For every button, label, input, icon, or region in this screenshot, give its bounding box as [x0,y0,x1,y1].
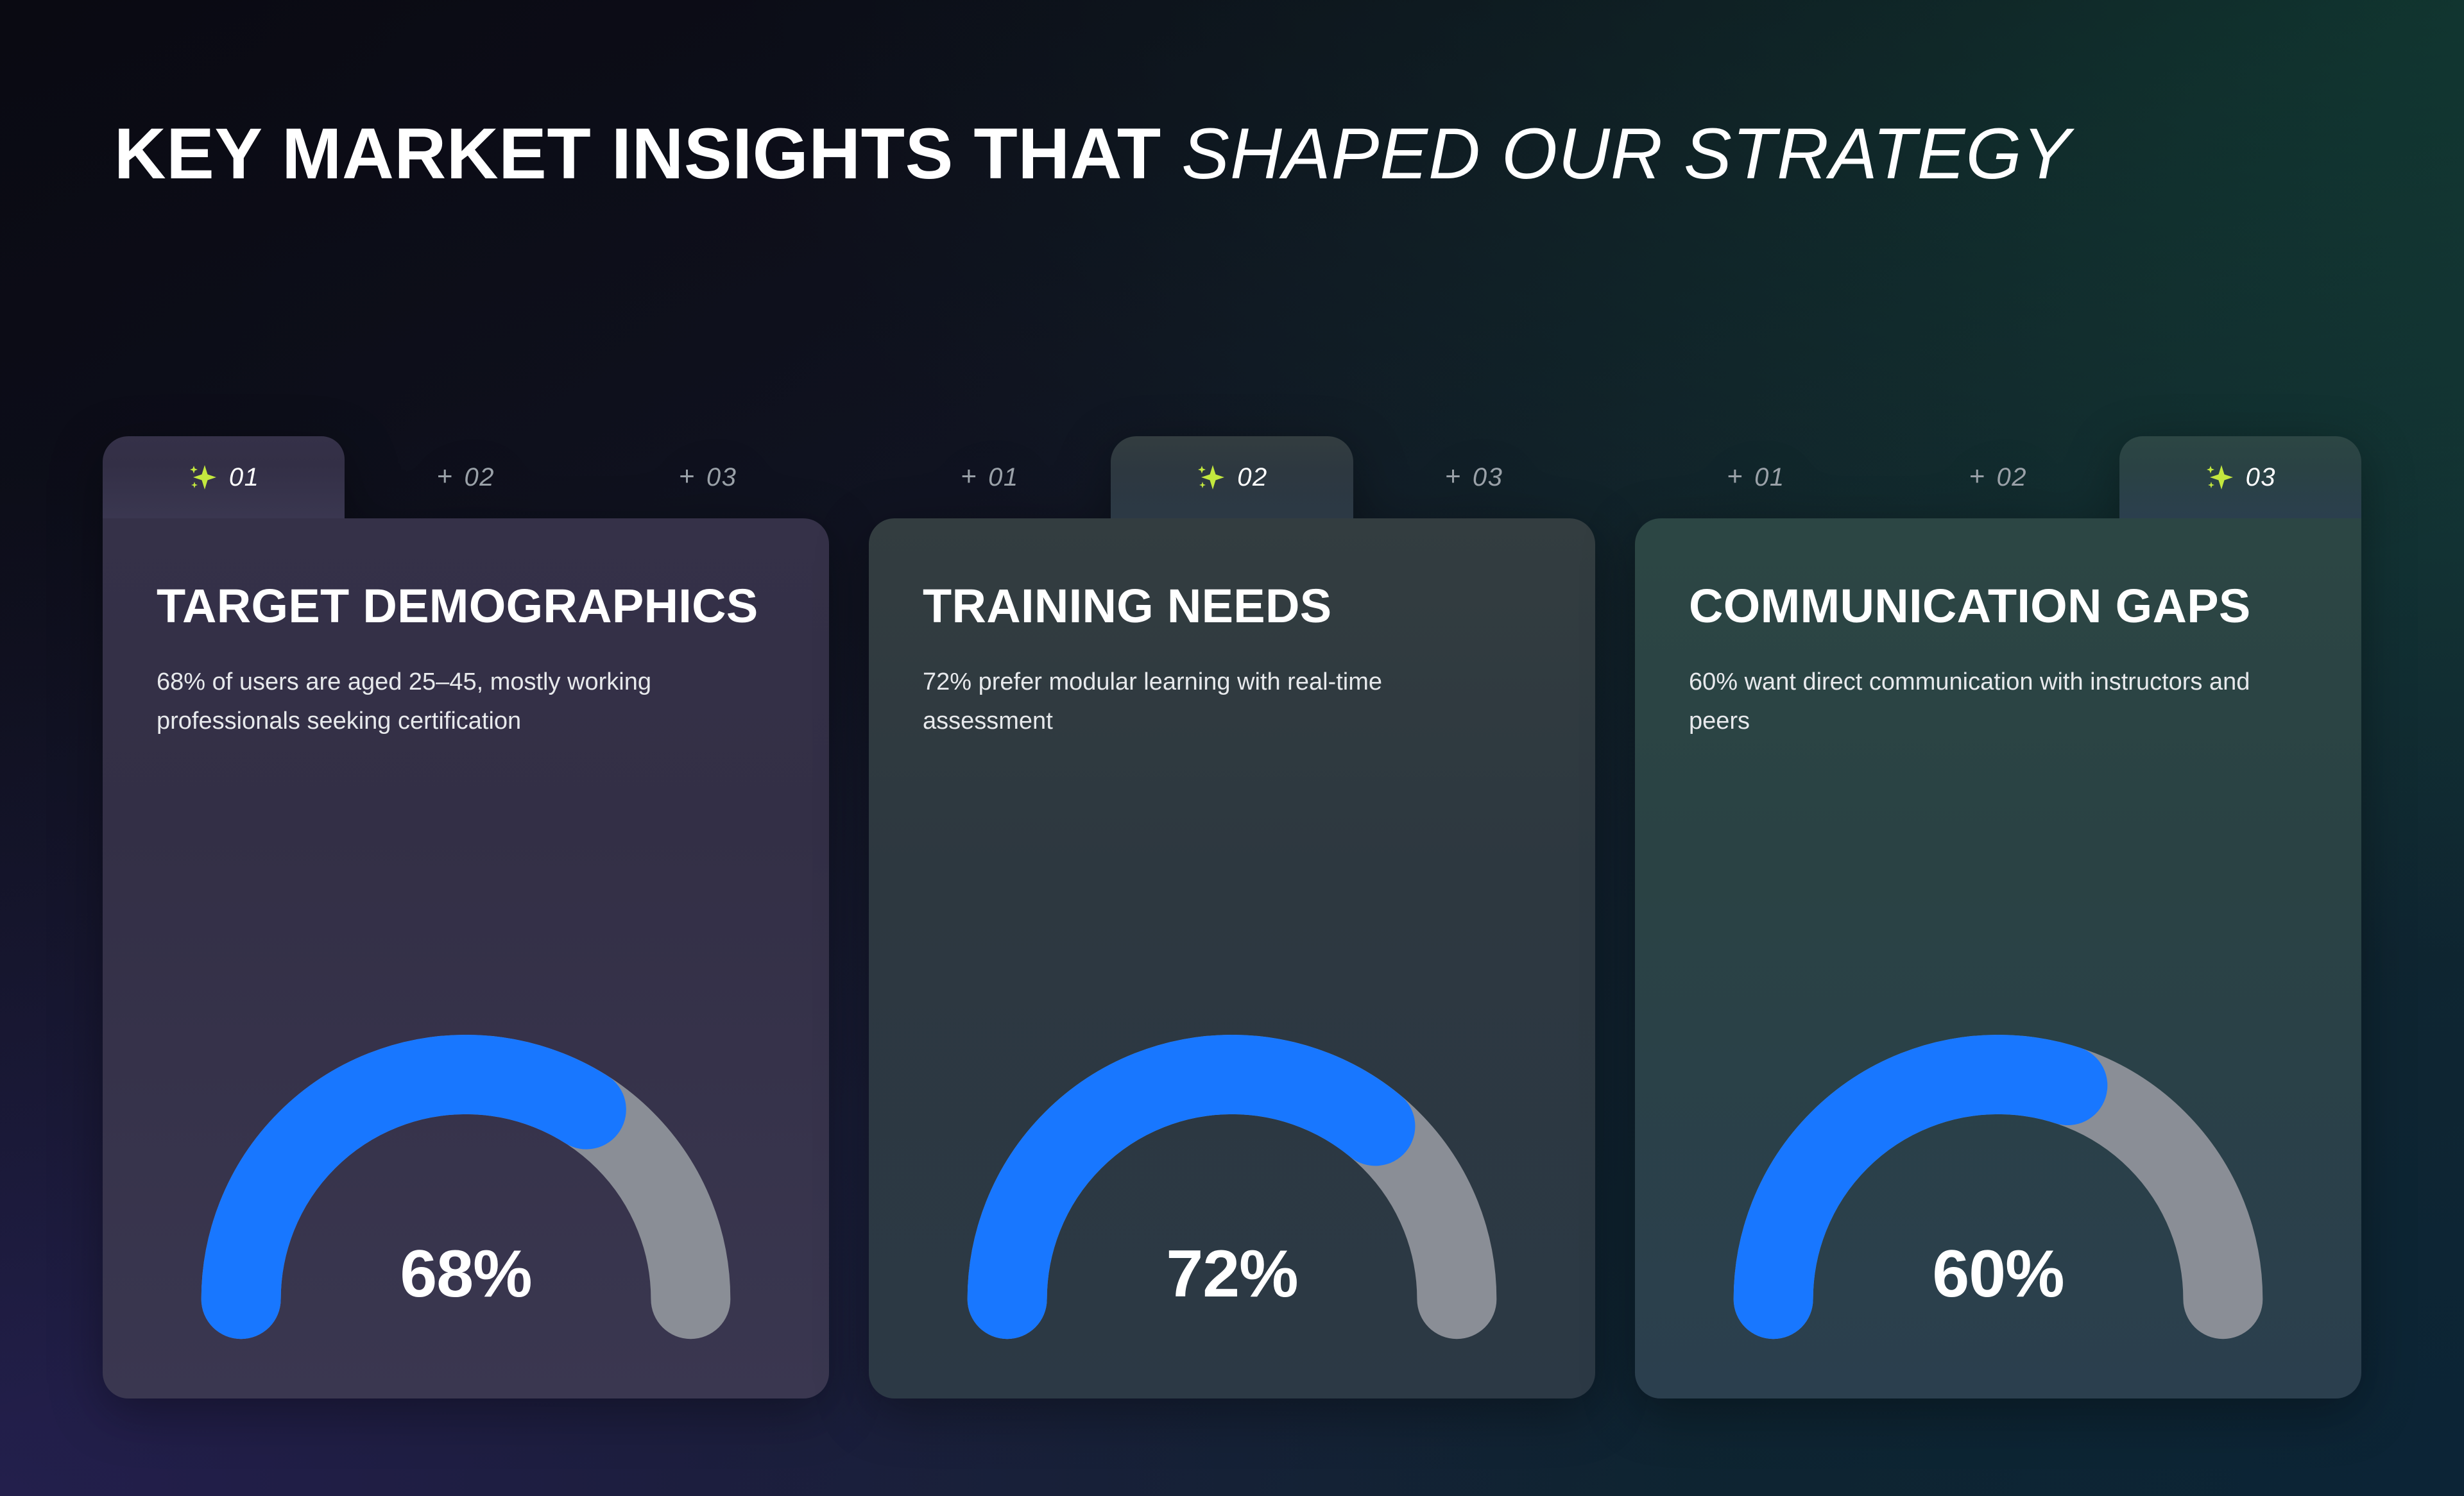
card-2-tab-03-label: 03 [1473,463,1503,492]
card-1-gauge: 68% [190,1025,742,1327]
card-1-gauge-wrap: 68% [103,1025,829,1327]
card-3-title: COMMUNICATION GAPS [1689,580,2307,633]
card-2-tab-02-label: 02 [1237,463,1268,492]
plus-icon: + [1727,463,1743,489]
card-3-gauge-label: 60% [1722,1236,2274,1313]
insight-card-1: 01 + 02 + 03 TARGET DEMOGRAPHICS 68% of … [103,436,829,1398]
card-3-tab-03[interactable]: 03 [2119,436,2361,518]
card-1-tab-03-label: 03 [706,463,737,492]
card-3-tab-01-label: 01 [1754,463,1785,492]
card-3-description: 60% want direct communication with instr… [1689,663,2258,742]
card-2-description: 72% prefer modular learning with real-ti… [923,663,1492,742]
card-1-tab-01-label: 01 [229,463,260,492]
card-3-tab-02-label: 02 [1997,463,2028,492]
card-1-description: 68% of users are aged 25–45, mostly work… [157,663,726,742]
card-3-tabs: + 01 + 02 03 [1635,436,2361,518]
card-1-tab-02-label: 02 [465,463,495,492]
insight-cards-row: 01 + 02 + 03 TARGET DEMOGRAPHICS 68% of … [103,436,2361,1398]
card-2-title: TRAINING NEEDS [923,580,1541,633]
card-3-gauge: 60% [1722,1025,2274,1327]
card-2-tab-03[interactable]: + 03 [1353,436,1595,518]
page-title: KEY MARKET INSIGHTS THAT SHAPED OUR STRA… [103,95,2092,213]
card-2-body: TRAINING NEEDS 72% prefer modular learni… [869,518,1595,1398]
plus-icon: + [679,463,695,489]
card-2-tab-01[interactable]: + 01 [869,436,1111,518]
card-1-tab-03[interactable]: + 03 [587,436,829,518]
card-3-gauge-wrap: 60% [1635,1025,2361,1327]
card-3-tab-02[interactable]: + 02 [1877,436,2119,518]
sparkle-icon [1196,463,1226,492]
page-title-italic: SHAPED OUR STRATEGY [1181,114,2071,194]
card-1-title: TARGET DEMOGRAPHICS [157,580,775,633]
insight-card-2: + 01 02 + 03 TRAINING NEEDS 7 [869,436,1595,1398]
plus-icon: + [961,463,977,489]
sparkle-icon [2205,463,2234,492]
card-2-tabs: + 01 02 + 03 [869,436,1595,518]
card-3-tab-01[interactable]: + 01 [1635,436,1877,518]
card-1-body: TARGET DEMOGRAPHICS 68% of users are age… [103,518,829,1398]
insight-card-3: + 01 + 02 03 COMMUNICATION GAPS [1635,436,2361,1398]
plus-icon: + [1969,463,1985,489]
card-3-body: COMMUNICATION GAPS 60% want direct commu… [1635,518,2361,1398]
card-2-tab-02[interactable]: 02 [1111,436,1353,518]
sparkle-icon [188,463,218,492]
card-1-tab-02[interactable]: + 02 [345,436,586,518]
card-1-gauge-label: 68% [190,1236,742,1313]
card-2-gauge: 72% [956,1025,1508,1327]
plus-icon: + [437,463,453,489]
card-1-tab-01[interactable]: 01 [103,436,345,518]
card-2-gauge-label: 72% [956,1236,1508,1313]
card-2-tab-01-label: 01 [988,463,1019,492]
page-title-bold: KEY MARKET INSIGHTS THAT [114,114,1182,194]
card-2-gauge-wrap: 72% [869,1025,1595,1327]
card-1-tabs: 01 + 02 + 03 [103,436,829,518]
card-3-tab-03-label: 03 [2246,463,2277,492]
plus-icon: + [1445,463,1461,489]
